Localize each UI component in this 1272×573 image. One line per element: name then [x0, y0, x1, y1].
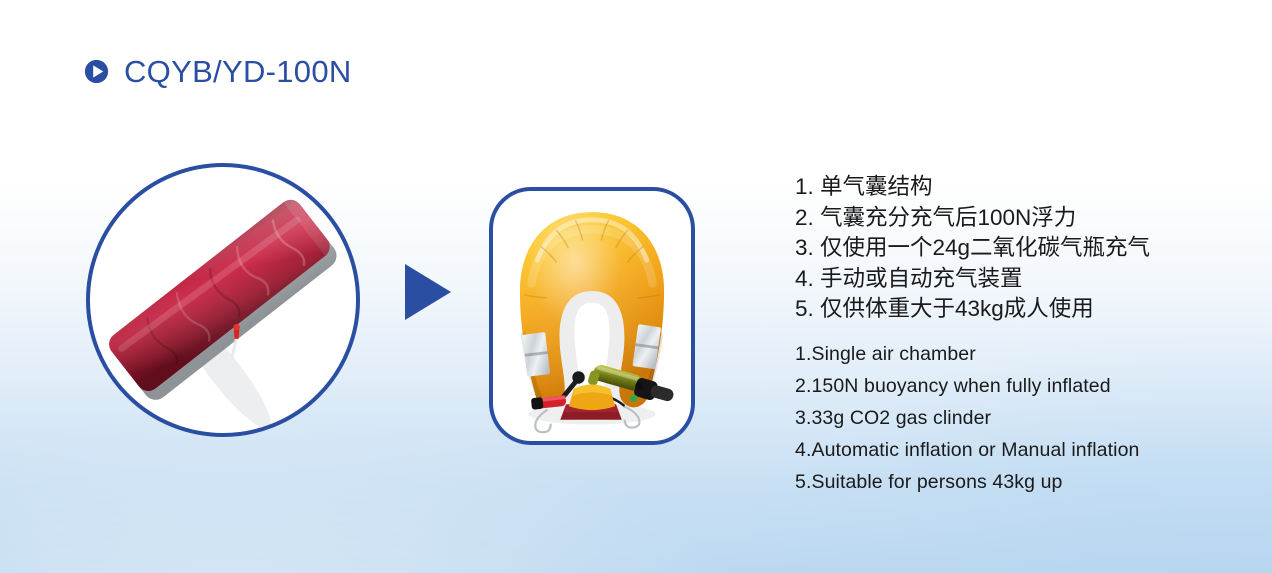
play-circle-icon	[84, 59, 109, 84]
specification-list-english: 1.Single air chamber 2.150N buoyancy whe…	[795, 338, 1235, 498]
product-spec-slide: CQYB/YD-100N	[0, 0, 1272, 573]
specification-list: 1. 单气囊结构 2. 气囊充分充气后100N浮力 3. 仅使用一个24g二氧化…	[795, 172, 1235, 498]
page-title-text: CQYB/YD-100N	[124, 56, 352, 87]
spec-item-cn: 2. 气囊充分充气后100N浮力	[795, 203, 1235, 234]
spec-item-en: 3.33g CO2 gas clinder	[795, 402, 1235, 434]
spec-item-en: 2.150N buoyancy when fully inflated	[795, 370, 1235, 402]
deflated-vest-image	[90, 167, 356, 433]
rounded-square-frame	[489, 187, 695, 445]
spec-item-cn: 3. 仅使用一个24g二氧化碳气瓶充气	[795, 233, 1235, 264]
spec-item-en: 5.Suitable for persons 43kg up	[795, 466, 1235, 498]
spec-item-en: 1.Single air chamber	[795, 338, 1235, 370]
spec-item-cn: 4. 手动或自动充气装置	[795, 264, 1235, 295]
circle-frame	[86, 163, 360, 437]
inflated-vest-image	[493, 191, 691, 439]
spec-item-cn: 1. 单气囊结构	[795, 172, 1235, 203]
figure-deflated-vest	[86, 163, 360, 437]
spec-item-en: 4.Automatic inflation or Manual inflatio…	[795, 434, 1235, 466]
figure-inflated-vest	[489, 187, 695, 445]
specification-list-chinese: 1. 单气囊结构 2. 气囊充分充气后100N浮力 3. 仅使用一个24g二氧化…	[795, 172, 1235, 325]
spec-item-cn: 5. 仅供体重大于43kg成人使用	[795, 294, 1235, 325]
triangle-right-icon	[402, 262, 454, 322]
page-title: CQYB/YD-100N	[84, 56, 352, 87]
